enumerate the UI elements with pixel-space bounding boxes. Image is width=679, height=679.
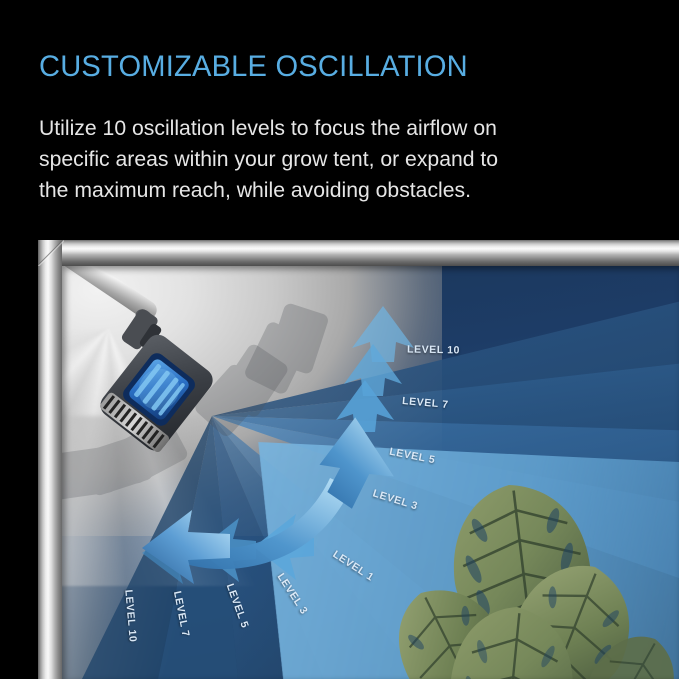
leaf-cluster [378, 477, 679, 679]
diagram-scene: LEVEL 10 LEVEL 7 LEVEL 5 LEVEL 3 LEVEL 1… [62, 266, 679, 679]
body-copy: Utilize 10 oscillation levels to focus t… [39, 113, 630, 206]
diagram-panel: LEVEL 10 LEVEL 7 LEVEL 5 LEVEL 3 LEVEL 1… [38, 240, 679, 679]
frame-corner-mitre [38, 240, 64, 266]
frame-left-bar [38, 240, 62, 679]
oscillating-fan-device [62, 266, 348, 508]
body-line-2: specific areas within your grow tent, or… [39, 144, 630, 175]
fan-head [96, 330, 218, 455]
frame-top-bar [38, 240, 679, 266]
label-level-10-upper: LEVEL 10 [407, 344, 460, 357]
body-line-3: the maximum reach, while avoiding obstac… [39, 175, 630, 206]
page-title: CUSTOMIZABLE OSCILLATION [39, 50, 468, 84]
text-block: CUSTOMIZABLE OSCILLATION Utilize 10 osci… [0, 0, 679, 240]
body-line-1: Utilize 10 oscillation levels to focus t… [39, 113, 630, 144]
